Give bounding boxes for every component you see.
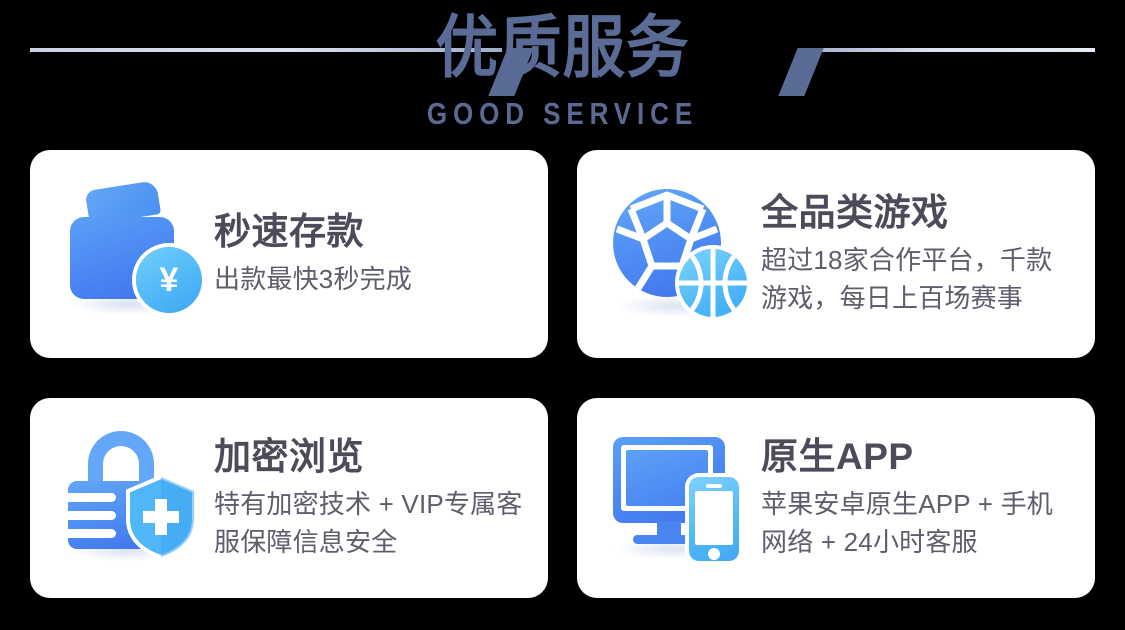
monitor-phone-icon	[605, 423, 755, 573]
basketball-icon	[679, 249, 747, 317]
lock-slot	[68, 529, 116, 538]
card-text-block: 全品类游戏 超过18家合作平台，千款 游戏，每日上百场赛事	[755, 191, 1077, 317]
lock-slot	[68, 511, 116, 520]
page-title: 优质服务	[45, 8, 1080, 88]
feature-card-games[interactable]: 全品类游戏 超过18家合作平台，千款 游戏，每日上百场赛事	[577, 150, 1095, 358]
card-description-line: 苹果安卓原生APP + 手机	[761, 485, 1077, 523]
lock-slot	[68, 493, 116, 502]
card-title: 秒速存款	[214, 210, 530, 254]
banner-header: 优质服务 GOOD SERVICE	[0, 0, 1125, 140]
card-title: 加密浏览	[214, 435, 530, 479]
card-title: 原生APP	[761, 435, 1077, 479]
phone-screen	[695, 491, 733, 545]
card-text-block: 秒速存款 出款最快3秒完成	[208, 210, 530, 298]
card-text-block: 加密浏览 特有加密技术 + VIP专属客 服保障信息安全	[208, 435, 530, 561]
card-description-line: 出款最快3秒完成	[214, 260, 530, 298]
feature-card-native-app[interactable]: 原生APP 苹果安卓原生APP + 手机 网络 + 24小时客服	[577, 398, 1095, 598]
service-feature-banner: 优质服务 GOOD SERVICE ¥ 秒速存款 出款最快3秒完成	[0, 0, 1125, 630]
lock-shield-icon	[58, 423, 208, 573]
phone-speaker	[706, 484, 722, 488]
card-description: 特有加密技术 + VIP专属客 服保障信息安全	[214, 485, 530, 561]
card-description-line: 游戏，每日上百场赛事	[761, 279, 1077, 317]
feature-card-encryption[interactable]: 加密浏览 特有加密技术 + VIP专属客 服保障信息安全	[30, 398, 548, 598]
phone-home-button	[708, 548, 720, 560]
smartphone-icon	[689, 477, 739, 561]
card-description-line: 特有加密技术 + VIP专属客	[214, 485, 530, 523]
soccer-basketball-icon	[605, 179, 755, 329]
wallet-yen-icon: ¥	[58, 179, 208, 329]
card-description: 超过18家合作平台，千款 游戏，每日上百场赛事	[761, 241, 1077, 317]
card-description-line: 网络 + 24小时客服	[761, 523, 1077, 561]
feature-card-grid: ¥ 秒速存款 出款最快3秒完成	[30, 150, 1095, 598]
page-subtitle: GOOD SERVICE	[90, 96, 1035, 132]
card-title: 全品类游戏	[761, 191, 1077, 235]
yen-symbol: ¥	[136, 247, 202, 313]
card-description: 出款最快3秒完成	[214, 260, 530, 298]
card-description: 苹果安卓原生APP + 手机 网络 + 24小时客服	[761, 485, 1077, 561]
card-text-block: 原生APP 苹果安卓原生APP + 手机 网络 + 24小时客服	[755, 435, 1077, 561]
card-description-line: 服保障信息安全	[214, 523, 530, 561]
feature-card-deposit[interactable]: ¥ 秒速存款 出款最快3秒完成	[30, 150, 548, 358]
card-description-line: 超过18家合作平台，千款	[761, 241, 1077, 279]
shield-cross-icon	[124, 475, 198, 559]
